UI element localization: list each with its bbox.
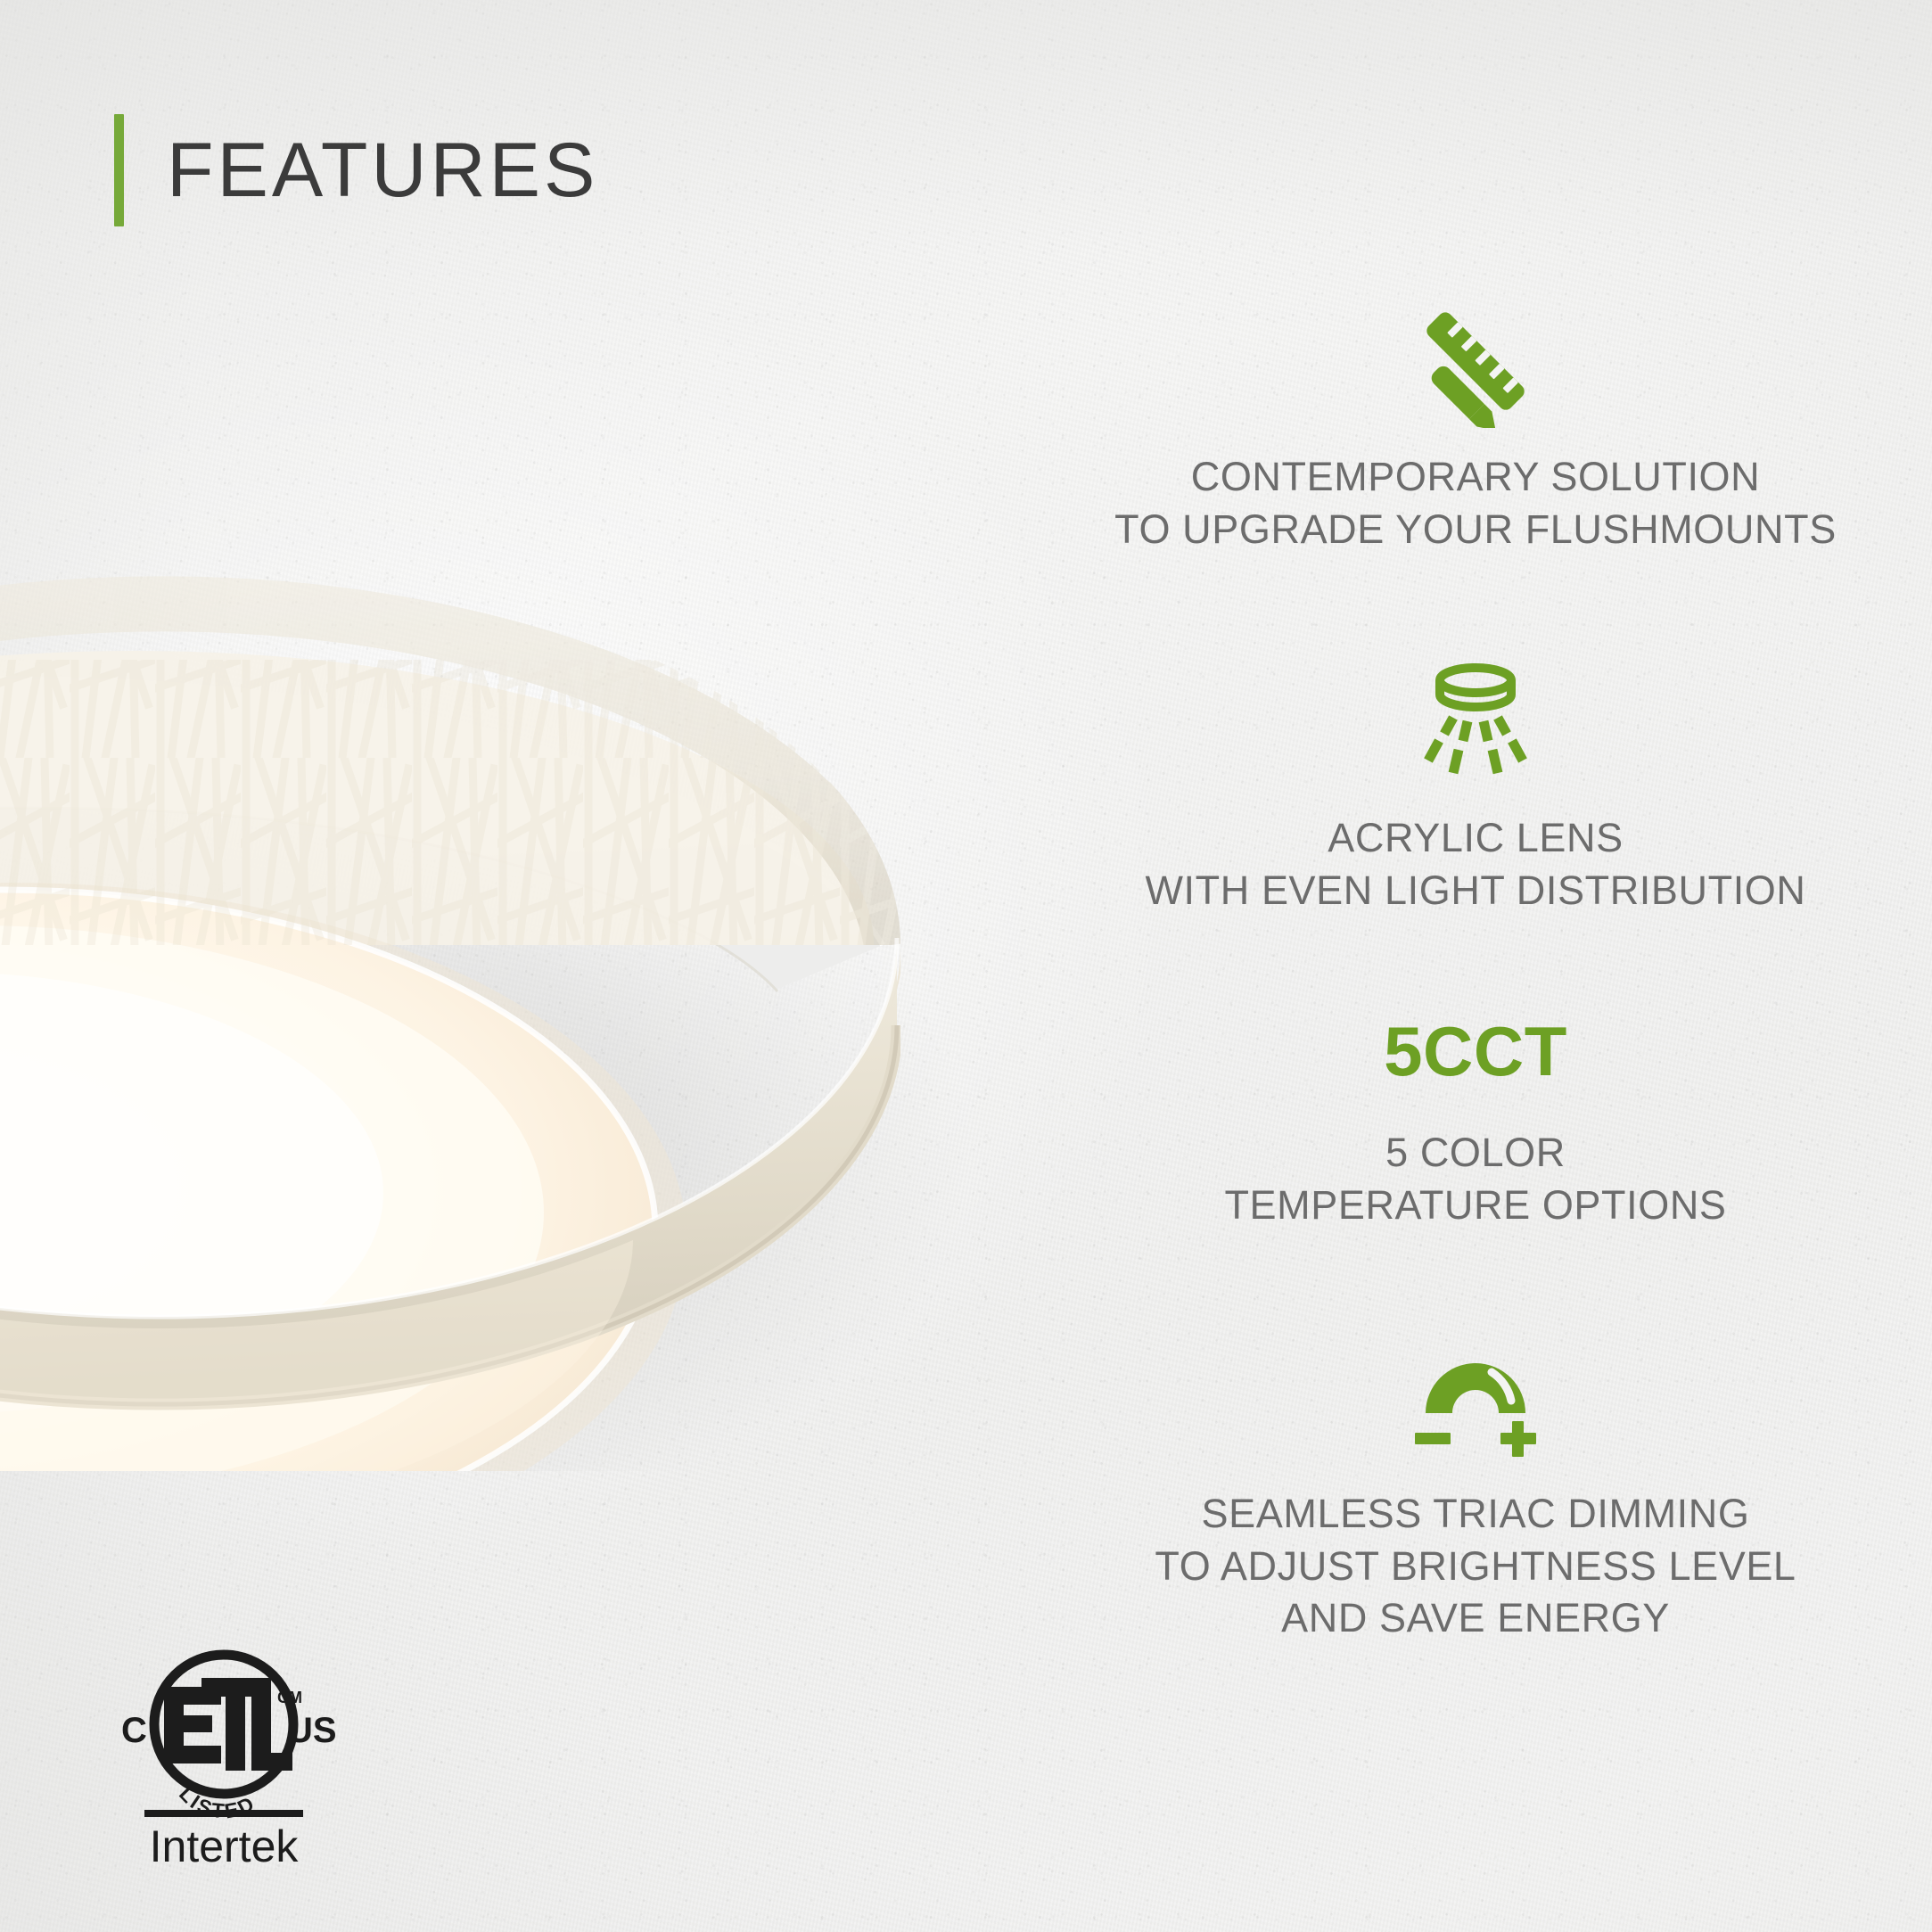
intertek-wordmark: Intertek (150, 1821, 300, 1871)
feature-line: AND SAVE ENERGY (1155, 1592, 1796, 1645)
etl-prefix-c: C (121, 1711, 147, 1750)
downlight-rays-icon (1400, 655, 1551, 789)
feature-text: 5 COLOR TEMPERATURE OPTIONS (1224, 1127, 1726, 1231)
page-title: FEATURES (167, 132, 598, 209)
feature-line: ACRYLIC LENS (1145, 812, 1805, 865)
feature-text: CONTEMPORARY SOLUTION TO UPGRADE YOUR FL… (1114, 451, 1837, 555)
feature-line: CONTEMPORARY SOLUTION (1114, 451, 1837, 504)
features-list: CONTEMPORARY SOLUTION TO UPGRADE YOUR FL… (1061, 294, 1890, 1645)
feature-text: ACRYLIC LENS WITH EVEN LIGHT DISTRIBUTIO… (1145, 812, 1805, 917)
feature-line: 5 COLOR (1224, 1127, 1726, 1180)
feature-line: TO UPGRADE YOUR FLUSHMOUNTS (1114, 504, 1837, 556)
ruler-and-pen-icon (1400, 294, 1551, 428)
feature-item-contemporary-solution: CONTEMPORARY SOLUTION TO UPGRADE YOUR FL… (1061, 294, 1890, 555)
feature-item-5cct: 5CCT 5 COLOR TEMPERATURE OPTIONS (1061, 1016, 1890, 1231)
feature-line: TO ADJUST BRIGHTNESS LEVEL (1155, 1541, 1796, 1593)
feature-sheet-page: FEATURES (0, 0, 1932, 1932)
etl-intertek-certification-logo: CM LISTED C US Intertek (112, 1628, 335, 1878)
page-title-group: FEATURES (114, 114, 598, 226)
accent-bar (114, 114, 124, 226)
feature-item-acrylic-lens: ACRYLIC LENS WITH EVEN LIGHT DISTRIBUTIO… (1061, 655, 1890, 917)
feature-line: WITH EVEN LIGHT DISTRIBUTION (1145, 865, 1805, 917)
feature-text: SEAMLESS TRIAC DIMMING TO ADJUST BRIGHTN… (1155, 1488, 1796, 1645)
feature-headline: 5CCT (1384, 1016, 1567, 1086)
etl-superscript: CM (277, 1689, 302, 1706)
feature-line: TEMPERATURE OPTIONS (1224, 1180, 1726, 1232)
feature-item-triac-dimming: SEAMLESS TRIAC DIMMING TO ADJUST BRIGHTN… (1061, 1331, 1890, 1645)
etl-suffix-us: US (287, 1711, 335, 1750)
feature-line: SEAMLESS TRIAC DIMMING (1155, 1488, 1796, 1541)
dimmer-dial-icon (1395, 1331, 1556, 1465)
